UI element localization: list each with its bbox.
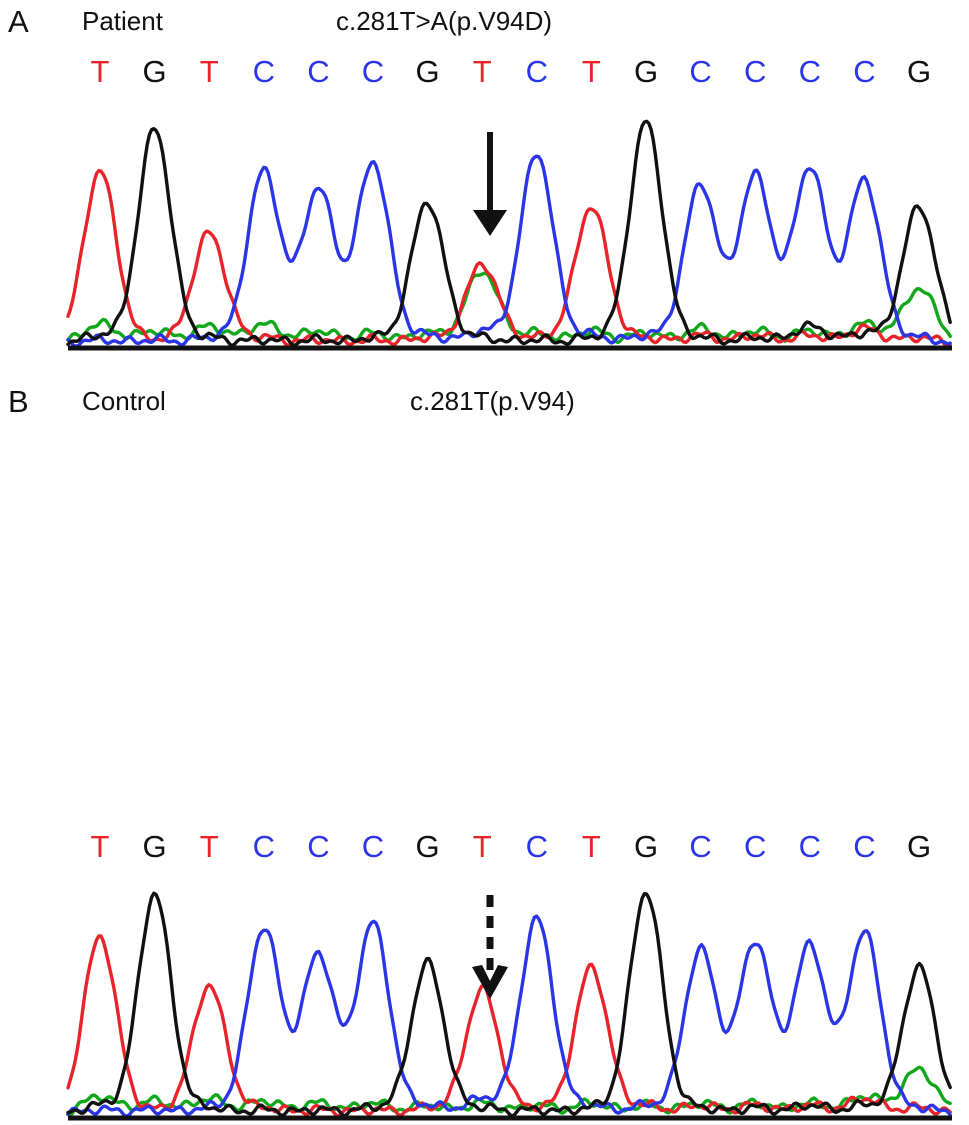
base-letter: C xyxy=(790,827,830,867)
base-letter: G xyxy=(135,827,175,867)
base-letter: T xyxy=(189,52,229,92)
panel-b-variant-label: c.281T(p.V94) xyxy=(410,388,575,414)
panel-a-letter: A xyxy=(8,6,29,37)
base-letter: G xyxy=(626,827,666,867)
base-letter: G xyxy=(135,52,175,92)
base-letter: G xyxy=(408,827,448,867)
base-letter: T xyxy=(189,827,229,867)
base-letter: C xyxy=(298,827,338,867)
base-letter: C xyxy=(844,827,884,867)
panel-b-base-sequence: TGTCCCGTCTGCCCCG xyxy=(0,827,969,871)
reference-arrow-dashed-icon xyxy=(462,893,518,1001)
base-letter: G xyxy=(408,52,448,92)
mutation-arrow-solid-icon xyxy=(462,130,518,238)
base-letter: C xyxy=(353,52,393,92)
panel-a-sample-label: Patient xyxy=(82,8,163,34)
base-letter: T xyxy=(571,827,611,867)
base-letter: T xyxy=(80,52,120,92)
panel-b: B Control c.281T(p.V94) TGTCCCGTCTGCCCCG xyxy=(0,380,969,755)
base-letter: C xyxy=(298,52,338,92)
base-letter: T xyxy=(571,52,611,92)
panel-b-sample-label: Control xyxy=(82,388,166,414)
base-letter: C xyxy=(681,52,721,92)
base-letter: T xyxy=(462,827,502,867)
base-letter: C xyxy=(735,52,775,92)
base-letter: C xyxy=(244,827,284,867)
panel-b-letter: B xyxy=(8,386,29,417)
base-letter: C xyxy=(244,52,284,92)
sequencing-figure: A Patient c.281T>A(p.V94D) TGTCCCGTCTGCC… xyxy=(0,0,969,755)
base-letter: T xyxy=(80,827,120,867)
trace-channel xyxy=(68,273,950,342)
base-letter: C xyxy=(844,52,884,92)
base-letter: C xyxy=(517,52,557,92)
base-letter: C xyxy=(517,827,557,867)
panel-a: A Patient c.281T>A(p.V94D) TGTCCCGTCTGCC… xyxy=(0,0,969,375)
base-letter: G xyxy=(626,52,666,92)
base-letter: C xyxy=(735,827,775,867)
base-letter: C xyxy=(353,827,393,867)
base-letter: C xyxy=(790,52,830,92)
base-letter: G xyxy=(899,827,939,867)
base-letter: C xyxy=(681,827,721,867)
panel-a-base-sequence: TGTCCCGTCTGCCCCG xyxy=(0,52,969,96)
panel-a-variant-label: c.281T>A(p.V94D) xyxy=(336,8,552,34)
base-letter: G xyxy=(899,52,939,92)
base-letter: T xyxy=(462,52,502,92)
